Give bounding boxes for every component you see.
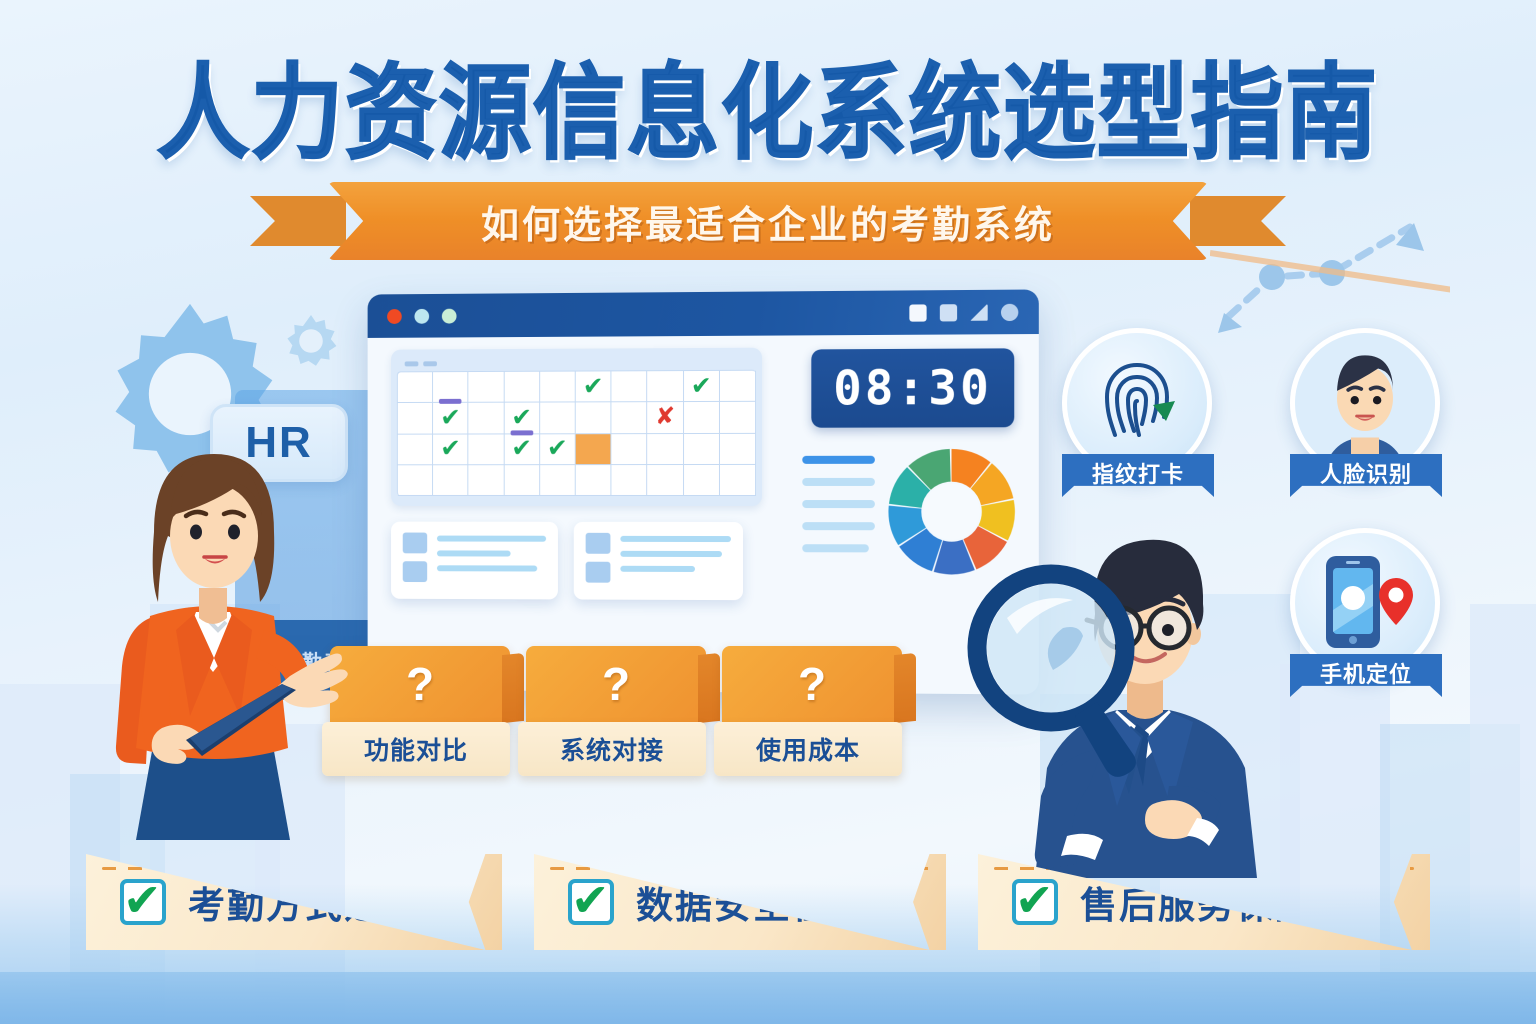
check-icon: ✔ bbox=[440, 406, 461, 431]
analyst-man-with-magnifier bbox=[955, 518, 1295, 883]
card-lines bbox=[437, 533, 546, 589]
thumb-block bbox=[586, 562, 611, 583]
badge-label: 手机定位 bbox=[1320, 657, 1412, 689]
check-icon: ✔ bbox=[511, 436, 532, 461]
summary-card-1[interactable] bbox=[391, 522, 558, 600]
calendar-cell[interactable] bbox=[720, 371, 756, 402]
calendar-cell[interactable] bbox=[648, 465, 684, 496]
folder-top: ? bbox=[526, 646, 706, 722]
folder-label: 系统对接 bbox=[560, 731, 664, 767]
calendar-cell[interactable] bbox=[576, 465, 612, 496]
card-lines bbox=[620, 533, 731, 589]
window-titlebar[interactable] bbox=[368, 289, 1039, 337]
folder-label-box: 使用成本 bbox=[714, 722, 902, 776]
calendar-cell[interactable]: ✘ bbox=[648, 402, 684, 433]
page-subtitle: 如何选择最适合企业的考勤系统 bbox=[481, 194, 1055, 249]
ribbon-tail-right bbox=[1190, 196, 1286, 246]
calendar-cell[interactable]: ✔ bbox=[433, 434, 468, 465]
thumb-block bbox=[403, 561, 427, 582]
bottom-banner-label: 数据安全性 bbox=[636, 875, 831, 929]
thumb-block bbox=[403, 533, 427, 554]
circle-icon[interactable] bbox=[1001, 303, 1018, 320]
subtitle-ribbon: 如何选择最适合企业的考勤系统 bbox=[328, 182, 1208, 260]
badge-label: 指纹打卡 bbox=[1092, 457, 1184, 489]
calendar-cell[interactable]: ✔ bbox=[684, 371, 720, 402]
calendar-grid[interactable]: ✔✔✔✔✘✔✔✔ bbox=[397, 370, 756, 496]
folder-label-box: 系统对接 bbox=[518, 722, 706, 776]
bottom-banner-0[interactable]: 考勤方式选择 bbox=[86, 854, 502, 950]
maximize-button-icon[interactable] bbox=[442, 308, 457, 323]
magnifier-icon bbox=[977, 574, 1136, 777]
calendar-bar-mark bbox=[510, 430, 533, 435]
calendar-cell[interactable] bbox=[576, 403, 612, 434]
triangle-icon[interactable] bbox=[970, 303, 987, 320]
calendar-cell[interactable] bbox=[648, 371, 684, 402]
calendar-bar-mark bbox=[439, 399, 462, 404]
calendar-cell[interactable] bbox=[504, 372, 540, 403]
clock-time: 08:30 bbox=[833, 360, 992, 416]
card-thumbs bbox=[403, 533, 427, 588]
folder-label-box: 功能对比 bbox=[322, 722, 510, 776]
calendar-cell[interactable] bbox=[469, 372, 505, 403]
badge-tag: 人脸识别 bbox=[1290, 454, 1442, 497]
calendar-cell[interactable] bbox=[398, 403, 433, 434]
ribbon-tail-left bbox=[250, 196, 346, 246]
stats-list bbox=[802, 444, 875, 605]
calendar-cell[interactable] bbox=[398, 465, 433, 496]
checkbox-check-icon bbox=[1012, 879, 1058, 925]
calendar-cell[interactable] bbox=[612, 371, 648, 402]
calendar-cell[interactable]: ✔ bbox=[504, 434, 540, 465]
folder-label: 使用成本 bbox=[756, 731, 860, 767]
infographic-poster: 人力资源信息化系统选型指南 如何选择最适合企业的考勤系统 HR 考勤表 bbox=[0, 0, 1536, 1024]
calendar-cell[interactable] bbox=[540, 403, 576, 434]
check-icon: ✔ bbox=[511, 405, 532, 430]
digital-clock: 08:30 bbox=[811, 348, 1014, 427]
calendar-cell[interactable] bbox=[684, 402, 720, 433]
calendar-header bbox=[397, 360, 756, 367]
page-title-wrap: 人力资源信息化系统选型指南 bbox=[0, 38, 1536, 171]
badge-fingerprint[interactable]: 指纹打卡 bbox=[1062, 328, 1214, 497]
attendance-calendar[interactable]: ✔✔✔✔✘✔✔✔ bbox=[391, 348, 762, 506]
summary-card-2[interactable] bbox=[574, 522, 743, 600]
thumb-block bbox=[586, 533, 611, 554]
bottom-banner-label: 售后服务保障 bbox=[1080, 875, 1314, 929]
fingerprint-icon bbox=[1091, 355, 1183, 451]
check-icon: ✔ bbox=[691, 374, 712, 399]
calendar-cell[interactable] bbox=[469, 434, 505, 465]
calendar-cell[interactable] bbox=[504, 465, 540, 496]
minimize-button-icon[interactable] bbox=[414, 308, 429, 323]
calendar-cell[interactable] bbox=[648, 434, 684, 465]
calendar-cell[interactable] bbox=[720, 433, 756, 464]
calendar-cell[interactable] bbox=[612, 434, 648, 465]
window-controls[interactable] bbox=[387, 308, 456, 323]
bottom-banner-1[interactable]: 数据安全性 bbox=[534, 854, 946, 950]
calendar-cell[interactable] bbox=[612, 402, 648, 433]
badge-face-recognition[interactable]: 人脸识别 bbox=[1290, 328, 1442, 497]
checkbox-check-icon bbox=[568, 879, 614, 925]
calendar-cell[interactable] bbox=[469, 465, 505, 496]
calendar-cell[interactable] bbox=[398, 434, 433, 465]
calendar-cell[interactable] bbox=[433, 465, 468, 496]
folder-top: ? bbox=[722, 646, 902, 722]
calendar-cell[interactable] bbox=[720, 402, 756, 433]
cross-icon: ✘ bbox=[655, 405, 675, 429]
checkbox-check-icon bbox=[120, 879, 166, 925]
calendar-cell[interactable] bbox=[720, 465, 756, 496]
dashboard-window[interactable]: ✔✔✔✔✘✔✔✔ 08:30 bbox=[368, 289, 1039, 694]
titlebar-icons[interactable] bbox=[909, 303, 1018, 321]
calendar-cell[interactable] bbox=[612, 465, 648, 496]
question-mark-icon: ? bbox=[798, 661, 826, 707]
badge-tag: 手机定位 bbox=[1290, 654, 1442, 697]
gear-small-icon bbox=[280, 310, 342, 372]
calendar-cell[interactable] bbox=[469, 403, 505, 434]
check-icon: ✔ bbox=[547, 436, 568, 461]
square-light-icon[interactable] bbox=[909, 304, 926, 321]
calendar-cell[interactable] bbox=[684, 433, 720, 464]
bottom-banner-label: 考勤方式选择 bbox=[188, 875, 422, 929]
calendar-cell[interactable]: ✔ bbox=[504, 403, 540, 434]
badge-label: 人脸识别 bbox=[1320, 457, 1412, 489]
page-title: 人力资源信息化系统选型指南 bbox=[0, 30, 1536, 179]
card-thumbs bbox=[586, 533, 611, 589]
badge-phone-location[interactable]: 手机定位 bbox=[1290, 528, 1442, 697]
calendar-cell[interactable] bbox=[540, 465, 576, 496]
check-icon: ✔ bbox=[440, 437, 461, 462]
folder-card-1[interactable]: ? 系统对接 bbox=[518, 646, 706, 776]
question-mark-icon: ? bbox=[602, 661, 630, 707]
badge-tag: 指纹打卡 bbox=[1062, 454, 1214, 497]
folder-card-2[interactable]: ? 使用成本 bbox=[714, 646, 902, 776]
dashboard-body: ✔✔✔✔✘✔✔✔ 08:30 bbox=[368, 334, 1039, 695]
hr-presenter-woman bbox=[58, 440, 368, 845]
check-icon: ✔ bbox=[583, 374, 604, 399]
calendar-cell[interactable]: ✔ bbox=[540, 434, 576, 465]
calendar-cell[interactable] bbox=[540, 372, 576, 403]
phone-location-icon bbox=[1310, 550, 1420, 656]
calendar-cell[interactable] bbox=[684, 465, 720, 496]
square-icon[interactable] bbox=[940, 304, 957, 321]
calendar-cell[interactable] bbox=[398, 372, 433, 403]
calendar-cell[interactable]: ✔ bbox=[576, 371, 612, 402]
question-mark-icon: ? bbox=[406, 661, 434, 707]
close-button-icon[interactable] bbox=[387, 309, 402, 324]
folder-label: 功能对比 bbox=[364, 731, 468, 767]
calendar-cell[interactable]: ✔ bbox=[433, 403, 468, 434]
ribbon-body: 如何选择最适合企业的考勤系统 bbox=[328, 182, 1208, 260]
calendar-cell-highlighted[interactable] bbox=[576, 434, 612, 465]
